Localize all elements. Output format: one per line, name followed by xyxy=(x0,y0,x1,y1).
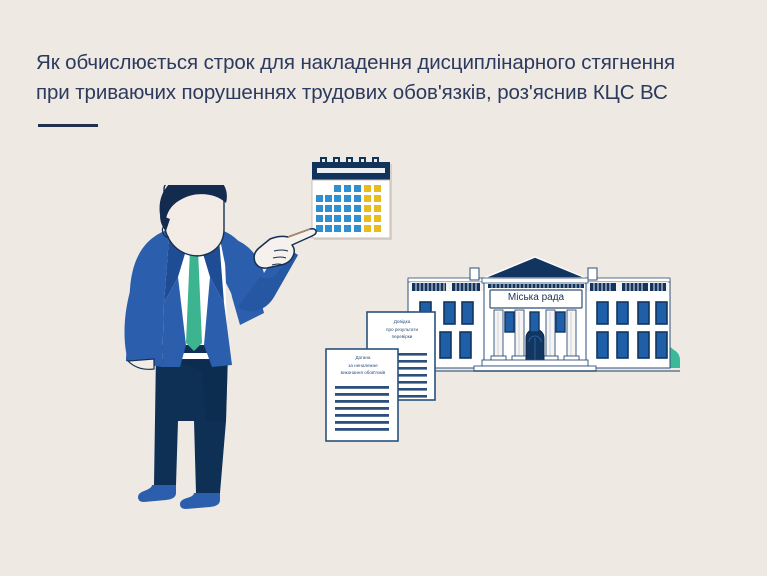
pediment xyxy=(482,257,588,283)
title-accent-rule xyxy=(38,124,98,127)
upper-windows-center xyxy=(505,312,565,332)
businessman-pointing xyxy=(120,185,320,525)
city-council-building xyxy=(398,256,680,376)
reprimand-title: Догана за неналежне виконання обов'язків xyxy=(326,354,400,377)
building-sign-label: Міська рада xyxy=(490,292,582,303)
inspection-report-title-line-1: Довідка xyxy=(368,318,436,326)
inspection-report-title-line-3: перевірки xyxy=(368,333,436,341)
inspection-report-title: Довідка про результати перевірки xyxy=(368,318,436,341)
person-pointing-hand xyxy=(254,229,316,268)
entrance-door xyxy=(526,329,544,360)
page-title: Як обчислюється строк для накладення дис… xyxy=(36,48,716,108)
reprimand-title-line-3: виконання обов'язків xyxy=(326,369,400,377)
inspection-report-title-line-2: про результати xyxy=(368,326,436,334)
reprimand-title-line-2: за неналежне xyxy=(326,362,400,370)
person-legs xyxy=(154,353,228,493)
illustration-canvas: Як обчислюється строк для накладення дис… xyxy=(0,0,767,576)
reprimand-title-line-1: Догана xyxy=(326,354,400,362)
